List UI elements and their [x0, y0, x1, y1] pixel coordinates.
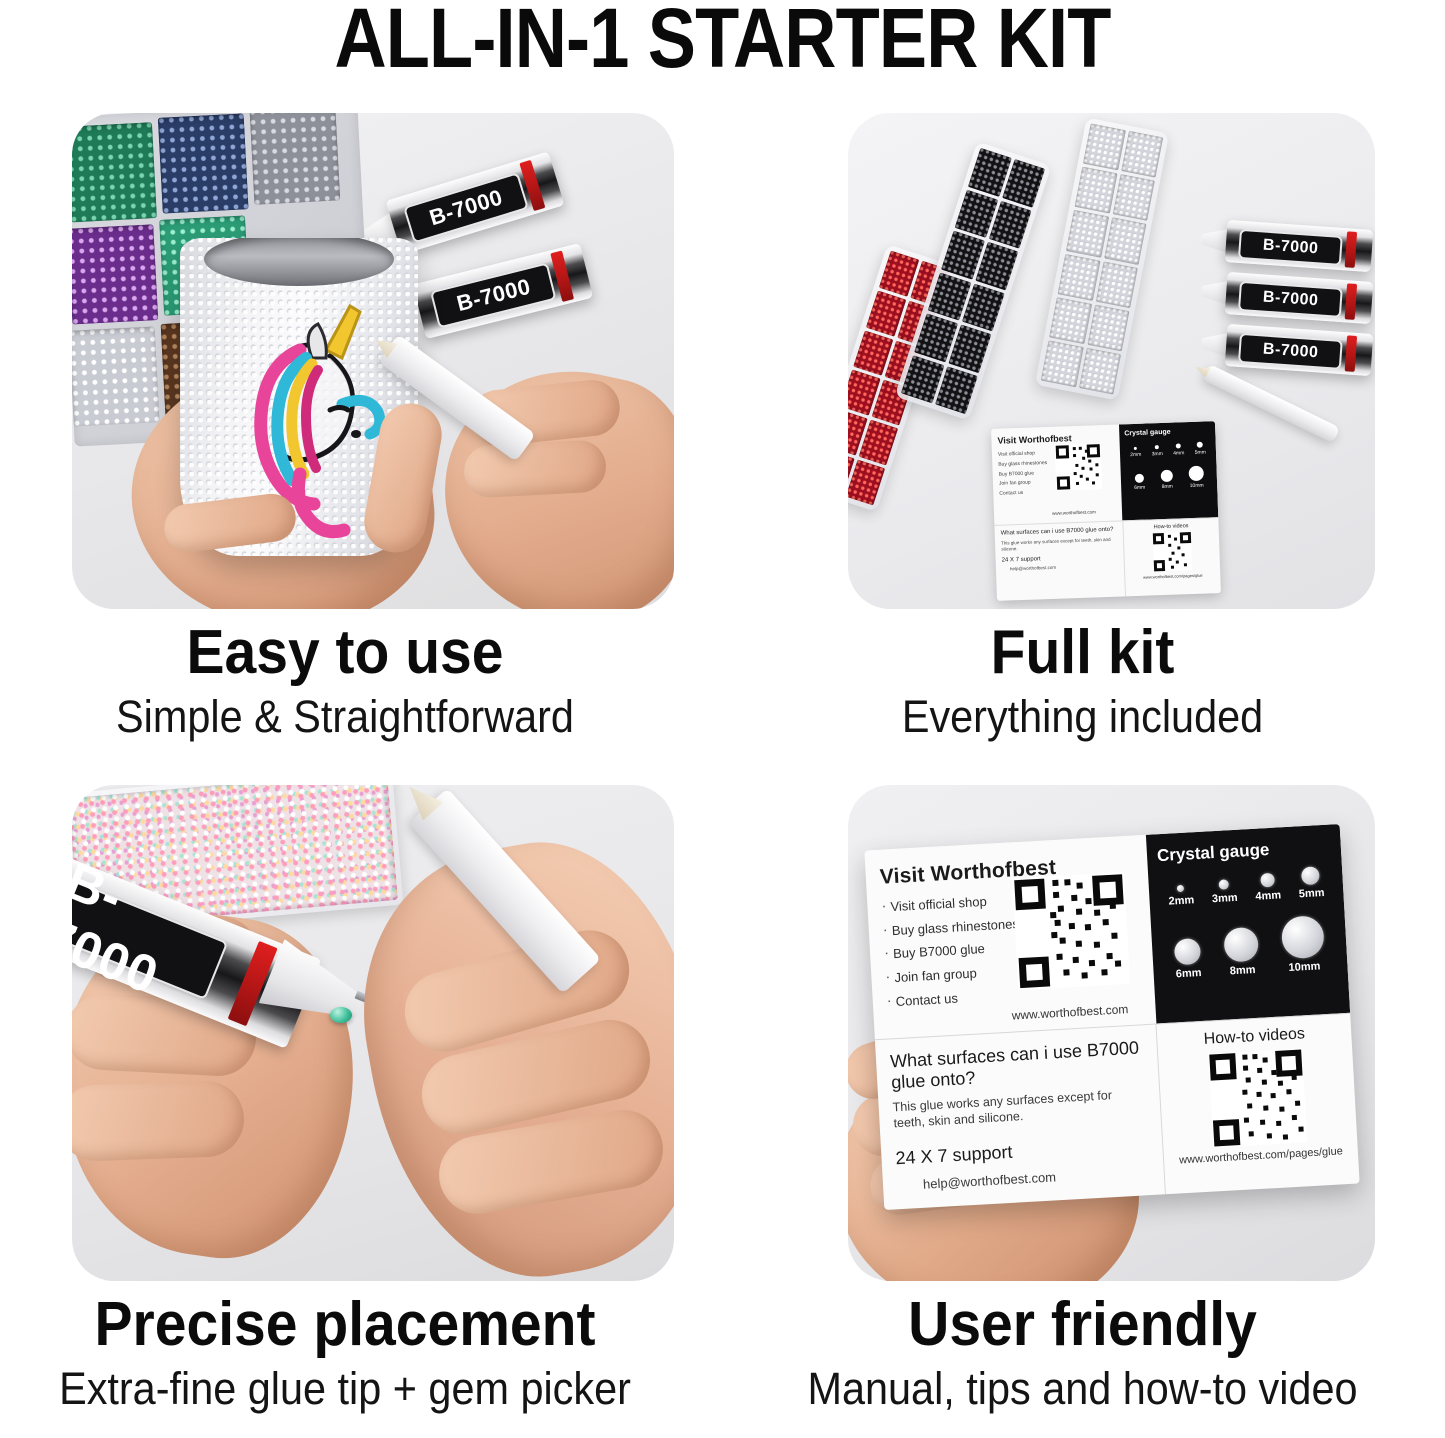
glue-tube-b7000-2: B-7000: [1225, 272, 1374, 324]
gauge-size-2mm: 2mm: [1168, 894, 1194, 907]
gauge-size-3mm: 3mm: [1212, 892, 1238, 905]
card-top-section: Visit Worthofbest Visit official shop Bu…: [864, 824, 1350, 1039]
glue-label-text: B-7000: [1238, 229, 1343, 265]
rhinestone-tray-clear: [1035, 117, 1169, 400]
caption-subheading: Everything included: [786, 692, 1379, 742]
caption-precise-placement: Precise placement Extra-fine glue tip + …: [0, 1292, 690, 1414]
gauge-size-5mm: 5mm: [1195, 449, 1206, 455]
feature-cell-precise-placement: B-7000: [72, 785, 674, 1281]
gauge-item-3mm: 3mm: [1211, 879, 1238, 905]
gauge-size-3mm: 3mm: [1152, 451, 1163, 457]
gauge-title: Crystal gauge: [1157, 837, 1332, 867]
picker-pen-tip: [1193, 362, 1210, 378]
crystal-gauge: Crystal gauge 2mm 3mm: [1146, 824, 1350, 1024]
caption-heading: Precise placement: [28, 1292, 663, 1358]
gauge-size-6mm: 6mm: [1134, 485, 1145, 491]
feature-cell-easy-to-use: B-7000 B-7000: [72, 113, 674, 609]
photo-user-friendly: Visit Worthofbest Visit official shop Bu…: [848, 785, 1375, 1281]
gauge-size-8mm: 8mm: [1225, 964, 1260, 978]
glue-tube-b7000-lower: B-7000: [413, 243, 593, 339]
caption-full-kit: Full kit Everything included: [760, 620, 1405, 742]
card-email-mini: help@worthofbest.com: [1002, 563, 1118, 572]
qr-code-howto-mini: [1152, 532, 1191, 571]
gauge-size-8mm: 8mm: [1161, 484, 1173, 490]
feature-cell-user-friendly: Visit Worthofbest Visit official shop Bu…: [848, 785, 1375, 1281]
glue-label-text: B-7000: [403, 172, 528, 243]
caption-heading: Easy to use: [28, 620, 663, 686]
glue-red-stripe: [1344, 231, 1357, 269]
gauge-size-10mm: 10mm: [1189, 483, 1204, 490]
caption-user-friendly: User friendly Manual, tips and how-to vi…: [760, 1292, 1405, 1414]
caption-easy-to-use: Easy to use Simple & Straightforward: [0, 620, 690, 742]
glue-tube-b7000-1: B-7000: [1225, 220, 1374, 272]
gauge-item-4mm: 4mm: [1254, 872, 1281, 902]
glue-tube-b7000-3: B-7000: [1225, 324, 1374, 376]
picker-pen-tip: [400, 785, 444, 821]
finger: [72, 1080, 245, 1162]
gauge-size-6mm: 6mm: [1175, 967, 1202, 980]
gauge-size-4mm: 4mm: [1173, 450, 1184, 456]
caption-subheading: Extra-fine glue tip + gem picker: [28, 1364, 663, 1414]
glue-body: B-7000: [1225, 220, 1374, 272]
gauge-item-6mm: 6mm: [1174, 938, 1202, 980]
qr-code-shop: [1012, 872, 1130, 990]
photo-easy-to-use: B-7000 B-7000: [72, 113, 674, 609]
glue-body: B-7000: [1225, 272, 1374, 324]
gauge-size-5mm: 5mm: [1299, 887, 1325, 900]
card-support-title: 24 X 7 support: [895, 1135, 1149, 1170]
card-bottom-section: What surfaces can i use B7000 glue onto?…: [875, 1013, 1360, 1210]
qr-code-shop: [1055, 443, 1103, 491]
crystal-gauge-mini: Crystal gauge 2mm 3mm 4mm 5mm 6mm 8mm 10…: [1119, 421, 1218, 520]
glue-label-text: B-7000: [430, 262, 556, 328]
card-support-email: help@worthofbest.com: [897, 1165, 1150, 1194]
feature-cell-full-kit: B-7000 B-7000 B-7000: [848, 113, 1375, 609]
glue-label-text: B-7000: [1238, 333, 1343, 369]
caption-subheading: Simple & Straightforward: [28, 692, 663, 742]
gauge-title-mini: Crystal gauge: [1124, 427, 1210, 437]
glue-red-stripe: [1344, 283, 1357, 321]
instruction-card: Visit Worthofbest Visit official shop Bu…: [864, 824, 1359, 1210]
gauge-item-5mm: 5mm: [1297, 866, 1324, 900]
caption-subheading: Manual, tips and how-to video: [786, 1364, 1379, 1414]
instruction-card-mini: Visit Worthofbest Visit official shop Bu…: [991, 421, 1221, 601]
qr-code-howto: [1208, 1048, 1307, 1147]
caption-heading: Full kit: [786, 620, 1379, 686]
green-gem: [330, 1007, 352, 1023]
glue-body: B-7000: [413, 243, 593, 339]
gauge-item-2mm: 2mm: [1168, 884, 1195, 907]
finger: [463, 439, 608, 498]
card-answer: This glue works any surfaces except for …: [892, 1086, 1146, 1132]
photo-precise-placement: B-7000: [72, 785, 674, 1281]
card-howto-block: How-to videos: [1156, 1014, 1359, 1196]
photo-full-kit: B-7000 B-7000 B-7000: [848, 113, 1375, 609]
card-glueurl-mini: www.worthofbest.com/pages/glue: [1129, 572, 1216, 580]
glue-label-text: B-7000: [1238, 281, 1343, 317]
card-howto-title: How-to videos: [1166, 1023, 1343, 1051]
card-question-mini: What surfaces can i use B7000 glue onto?: [1001, 527, 1117, 538]
glue-body: B-7000: [1225, 324, 1374, 376]
glue-red-stripe: [1344, 335, 1357, 373]
card-howto-mini: How-to videos: [1128, 522, 1215, 531]
card-question: What surfaces can i use B7000 glue onto?: [890, 1037, 1145, 1094]
caption-heading: User friendly: [786, 1292, 1379, 1358]
card-faq-block: What surfaces can i use B7000 glue onto?…: [875, 1025, 1166, 1210]
card-support-mini: 24 X 7 support: [1002, 554, 1118, 564]
gauge-item-10mm: 10mm: [1281, 915, 1326, 974]
card-howto-url: www.worthofbest.com/pages/glue: [1173, 1145, 1349, 1167]
gauge-size-4mm: 4mm: [1255, 889, 1281, 902]
gem-picker-pen: [1202, 364, 1341, 443]
card-answer-mini: This glue works any surfaces except for …: [1001, 537, 1117, 552]
gauge-size-10mm: 10mm: [1283, 960, 1326, 974]
gauge-size-2mm: 2mm: [1130, 452, 1141, 458]
gauge-item-8mm: 8mm: [1223, 927, 1260, 978]
